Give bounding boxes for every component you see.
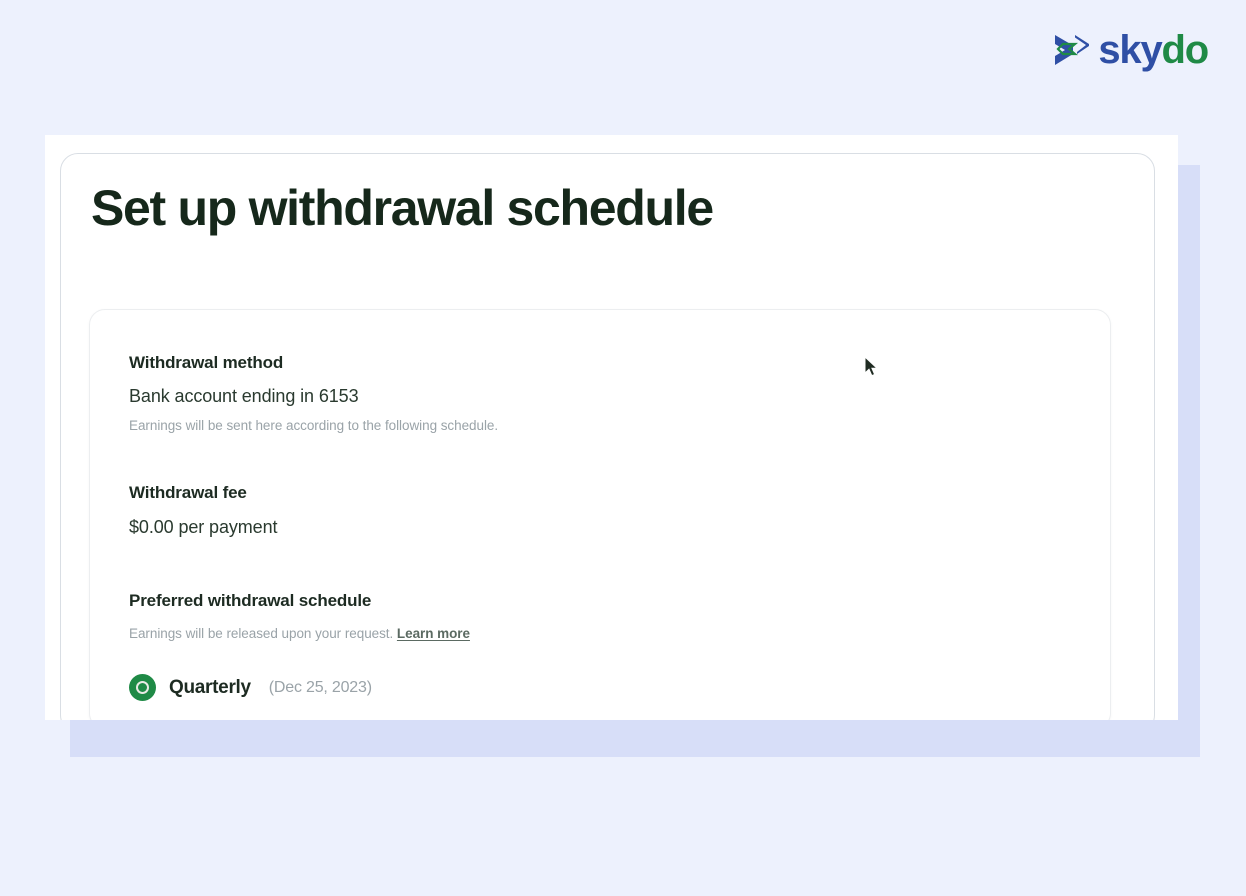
brand-wordmark: skydo bbox=[1098, 30, 1208, 70]
withdrawal-schedule-card: Set up withdrawal schedule Withdrawal me… bbox=[60, 153, 1155, 720]
withdrawal-fee-value: $0.00 per payment bbox=[129, 517, 1110, 539]
brand-logo: skydo bbox=[1053, 28, 1208, 72]
page-title: Set up withdrawal schedule bbox=[61, 154, 1154, 236]
radio-selected-icon[interactable] bbox=[129, 674, 156, 701]
schedule-option-detail: (Dec 25, 2023) bbox=[269, 680, 372, 696]
brand-word-sky: sky bbox=[1098, 28, 1161, 72]
withdrawal-method-value: Bank account ending in 6153 bbox=[129, 386, 1110, 408]
schedule-option-label: Quarterly bbox=[169, 678, 251, 697]
skydo-chevron-icon bbox=[1053, 33, 1091, 67]
preferred-schedule-note-text: Earnings will be released upon your requ… bbox=[129, 626, 393, 641]
preferred-schedule-heading: Preferred withdrawal schedule bbox=[129, 591, 1110, 611]
schedule-options-group: Quarterly (Dec 25, 2023) Monthly (last W… bbox=[129, 671, 1110, 720]
preferred-schedule-note: Earnings will be released upon your requ… bbox=[129, 625, 1110, 643]
withdrawal-fee-section: Withdrawal fee $0.00 per payment bbox=[129, 483, 1110, 538]
spacer bbox=[129, 547, 1110, 591]
screenshot-panel: Set up withdrawal schedule Withdrawal me… bbox=[45, 135, 1178, 720]
withdrawal-fee-heading: Withdrawal fee bbox=[129, 483, 1110, 503]
withdrawal-method-heading: Withdrawal method bbox=[129, 353, 1110, 373]
spacer bbox=[129, 435, 1110, 483]
schedule-option-quarterly[interactable]: Quarterly (Dec 25, 2023) bbox=[129, 671, 1110, 705]
learn-more-link[interactable]: Learn more bbox=[397, 626, 470, 641]
withdrawal-settings-panel: Withdrawal method Bank account ending in… bbox=[89, 309, 1111, 720]
withdrawal-method-section: Withdrawal method Bank account ending in… bbox=[129, 353, 1110, 435]
preferred-schedule-section: Preferred withdrawal schedule Earnings w… bbox=[129, 591, 1110, 720]
withdrawal-method-note: Earnings will be sent here according to … bbox=[129, 417, 1110, 435]
brand-word-do: do bbox=[1162, 28, 1208, 72]
